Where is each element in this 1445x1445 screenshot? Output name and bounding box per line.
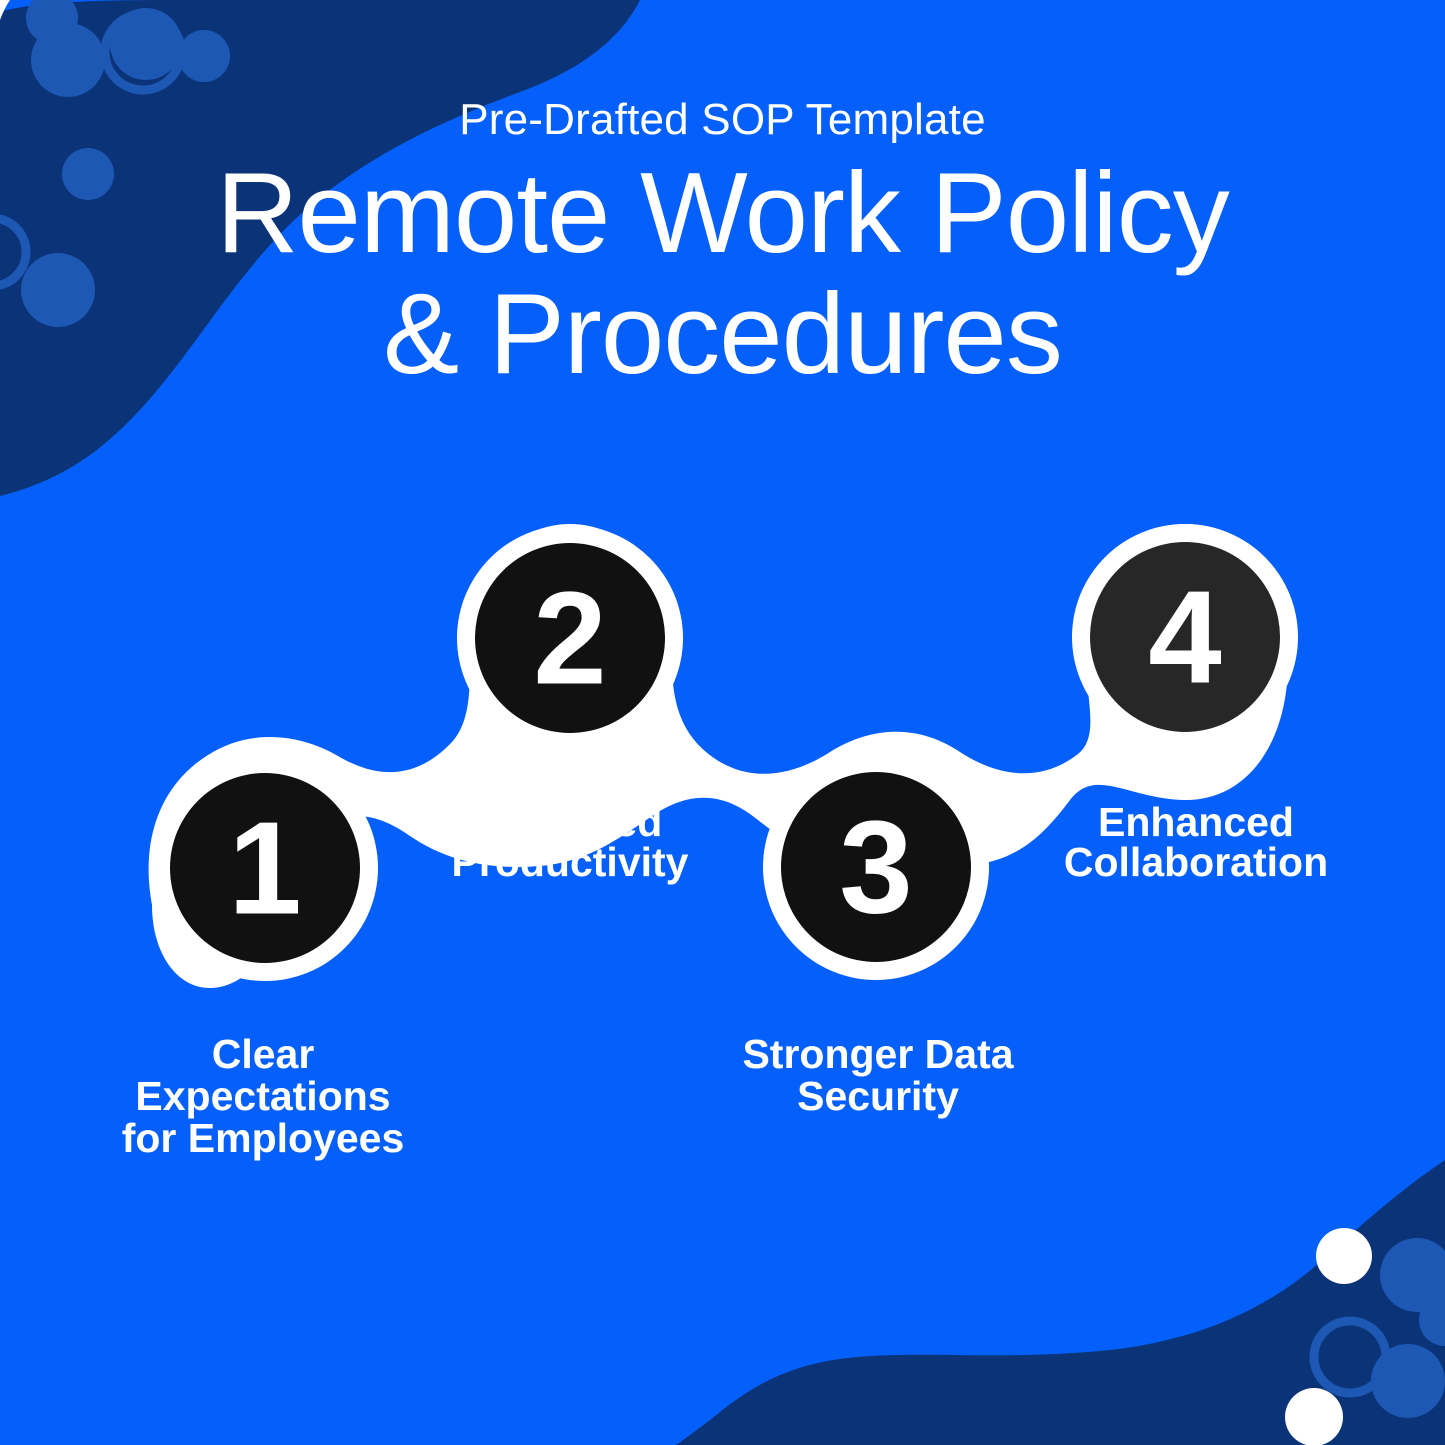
node-1[interactable]: 1 xyxy=(170,773,360,963)
page-title-line-2: & Procedures xyxy=(0,275,1445,396)
eyebrow-text: Pre-Drafted SOP Template xyxy=(0,96,1445,144)
node-label-1-line-1: Clear xyxy=(212,1031,315,1077)
node-label-2-line-2: Productivity xyxy=(452,839,689,885)
node-label-4: Enhanced Collaboration xyxy=(1064,799,1328,885)
node-3[interactable]: 3 xyxy=(781,772,971,962)
node-number-3: 3 xyxy=(839,794,912,941)
node-label-1: Clear Expectations for Employees xyxy=(122,1031,405,1161)
node-label-3: Stronger Data Security xyxy=(742,1031,1014,1119)
node-label-1-line-3: for Employees xyxy=(122,1115,405,1161)
node-4[interactable]: 4 xyxy=(1090,542,1280,732)
node-number-2: 2 xyxy=(533,565,606,712)
node-number-1: 1 xyxy=(228,795,301,942)
node-2[interactable]: 2 xyxy=(475,543,665,733)
node-number-4: 4 xyxy=(1148,564,1221,711)
node-label-3-line-2: Security xyxy=(797,1073,959,1119)
node-label-4-line-2: Collaboration xyxy=(1064,839,1328,885)
page-title: Remote Work Policy & Procedures xyxy=(0,154,1445,396)
header-block: Pre-Drafted SOP Template Remote Work Pol… xyxy=(0,96,1445,396)
node-label-1-line-2: Expectations xyxy=(135,1073,390,1119)
node-label-3-line-1: Stronger Data xyxy=(742,1031,1014,1077)
page-title-line-1: Remote Work Policy xyxy=(0,154,1445,275)
poster-canvas: Pre-Drafted SOP Template Remote Work Pol… xyxy=(0,0,1445,1445)
node-label-2: Improved Productivity xyxy=(452,799,689,885)
